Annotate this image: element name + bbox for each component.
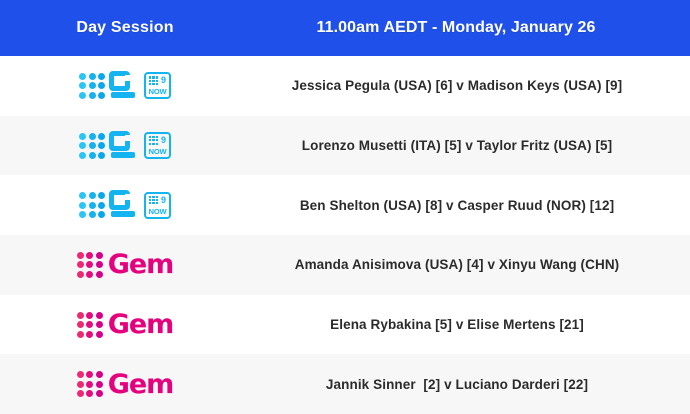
nine-dot-matrix-icon bbox=[79, 192, 105, 218]
match-label: Ben Shelton (USA) [8] v Casper Ruud (NOR… bbox=[250, 198, 690, 213]
nine-numeral-icon bbox=[109, 190, 139, 220]
now-badge-nine-label: 9 bbox=[161, 136, 166, 145]
match-row[interactable]: 9 NOW Lorenzo Musetti (ITA) [5] v Taylor… bbox=[0, 116, 690, 176]
channel-cell[interactable]: Gem bbox=[0, 248, 250, 282]
gem-wordmark: Gem bbox=[108, 311, 174, 338]
schedule-header: Day Session 11.00am AEDT - Monday, Janua… bbox=[0, 0, 690, 56]
now-badge-icon: 9 NOW bbox=[144, 132, 171, 159]
nine-now-logo: 9 NOW bbox=[79, 188, 171, 222]
now-mini-dot-matrix-icon bbox=[149, 76, 158, 85]
session-time-label: 11.00am AEDT - Monday, January 26 bbox=[250, 19, 690, 37]
channel-cell[interactable]: 9 NOW bbox=[0, 69, 250, 103]
day-session-schedule: Day Session 11.00am AEDT - Monday, Janua… bbox=[0, 0, 690, 414]
now-mini-dot-matrix-icon bbox=[149, 136, 158, 145]
nine-dot-matrix-icon bbox=[79, 133, 105, 159]
now-badge-text: NOW bbox=[146, 88, 169, 96]
gem-dot-matrix-icon bbox=[77, 252, 103, 278]
now-badge-nine-label: 9 bbox=[161, 196, 166, 205]
session-title: Day Session bbox=[0, 19, 250, 37]
match-label: Elena Rybakina [5] v Elise Mertens [21] bbox=[250, 317, 690, 332]
match-row[interactable]: Gem Elena Rybakina [5] v Elise Mertens [… bbox=[0, 295, 690, 355]
now-mini-dot-matrix-icon bbox=[149, 196, 158, 205]
match-row[interactable]: Gem Jannik Sinner [2] v Luciano Darderi … bbox=[0, 354, 690, 414]
channel-cell[interactable]: Gem bbox=[0, 367, 250, 401]
nine-dot-matrix-icon bbox=[79, 73, 105, 99]
match-label: Jessica Pegula (USA) [6] v Madison Keys … bbox=[250, 78, 690, 93]
now-badge-icon: 9 NOW bbox=[144, 72, 171, 99]
gem-logo: Gem bbox=[77, 367, 174, 401]
match-label: Lorenzo Musetti (ITA) [5] v Taylor Fritz… bbox=[250, 138, 690, 153]
nine-now-logo: 9 NOW bbox=[79, 69, 171, 103]
gem-dot-matrix-icon bbox=[77, 371, 103, 397]
gem-wordmark: Gem bbox=[108, 371, 174, 398]
match-row[interactable]: 9 NOW Jessica Pegula (USA) [6] v Madison… bbox=[0, 56, 690, 116]
gem-wordmark: Gem bbox=[108, 251, 174, 278]
match-list: 9 NOW Jessica Pegula (USA) [6] v Madison… bbox=[0, 56, 690, 414]
nine-numeral-icon bbox=[109, 131, 139, 161]
gem-logo: Gem bbox=[77, 308, 174, 342]
channel-cell[interactable]: Gem bbox=[0, 308, 250, 342]
channel-cell[interactable]: 9 NOW bbox=[0, 129, 250, 163]
gem-logo: Gem bbox=[77, 248, 174, 282]
gem-dot-matrix-icon bbox=[77, 312, 103, 338]
now-badge-icon: 9 NOW bbox=[144, 192, 171, 219]
now-badge-nine-label: 9 bbox=[161, 76, 166, 85]
now-badge-text: NOW bbox=[146, 148, 169, 156]
match-label: Amanda Anisimova (USA) [4] v Xinyu Wang … bbox=[250, 257, 690, 272]
nine-now-logo: 9 NOW bbox=[79, 129, 171, 163]
now-badge-text: NOW bbox=[146, 208, 169, 216]
nine-numeral-icon bbox=[109, 71, 139, 101]
match-row[interactable]: Gem Amanda Anisimova (USA) [4] v Xinyu W… bbox=[0, 235, 690, 295]
channel-cell[interactable]: 9 NOW bbox=[0, 188, 250, 222]
match-row[interactable]: 9 NOW Ben Shelton (USA) [8] v Casper Ruu… bbox=[0, 175, 690, 235]
match-label: Jannik Sinner [2] v Luciano Darderi [22] bbox=[250, 377, 690, 392]
